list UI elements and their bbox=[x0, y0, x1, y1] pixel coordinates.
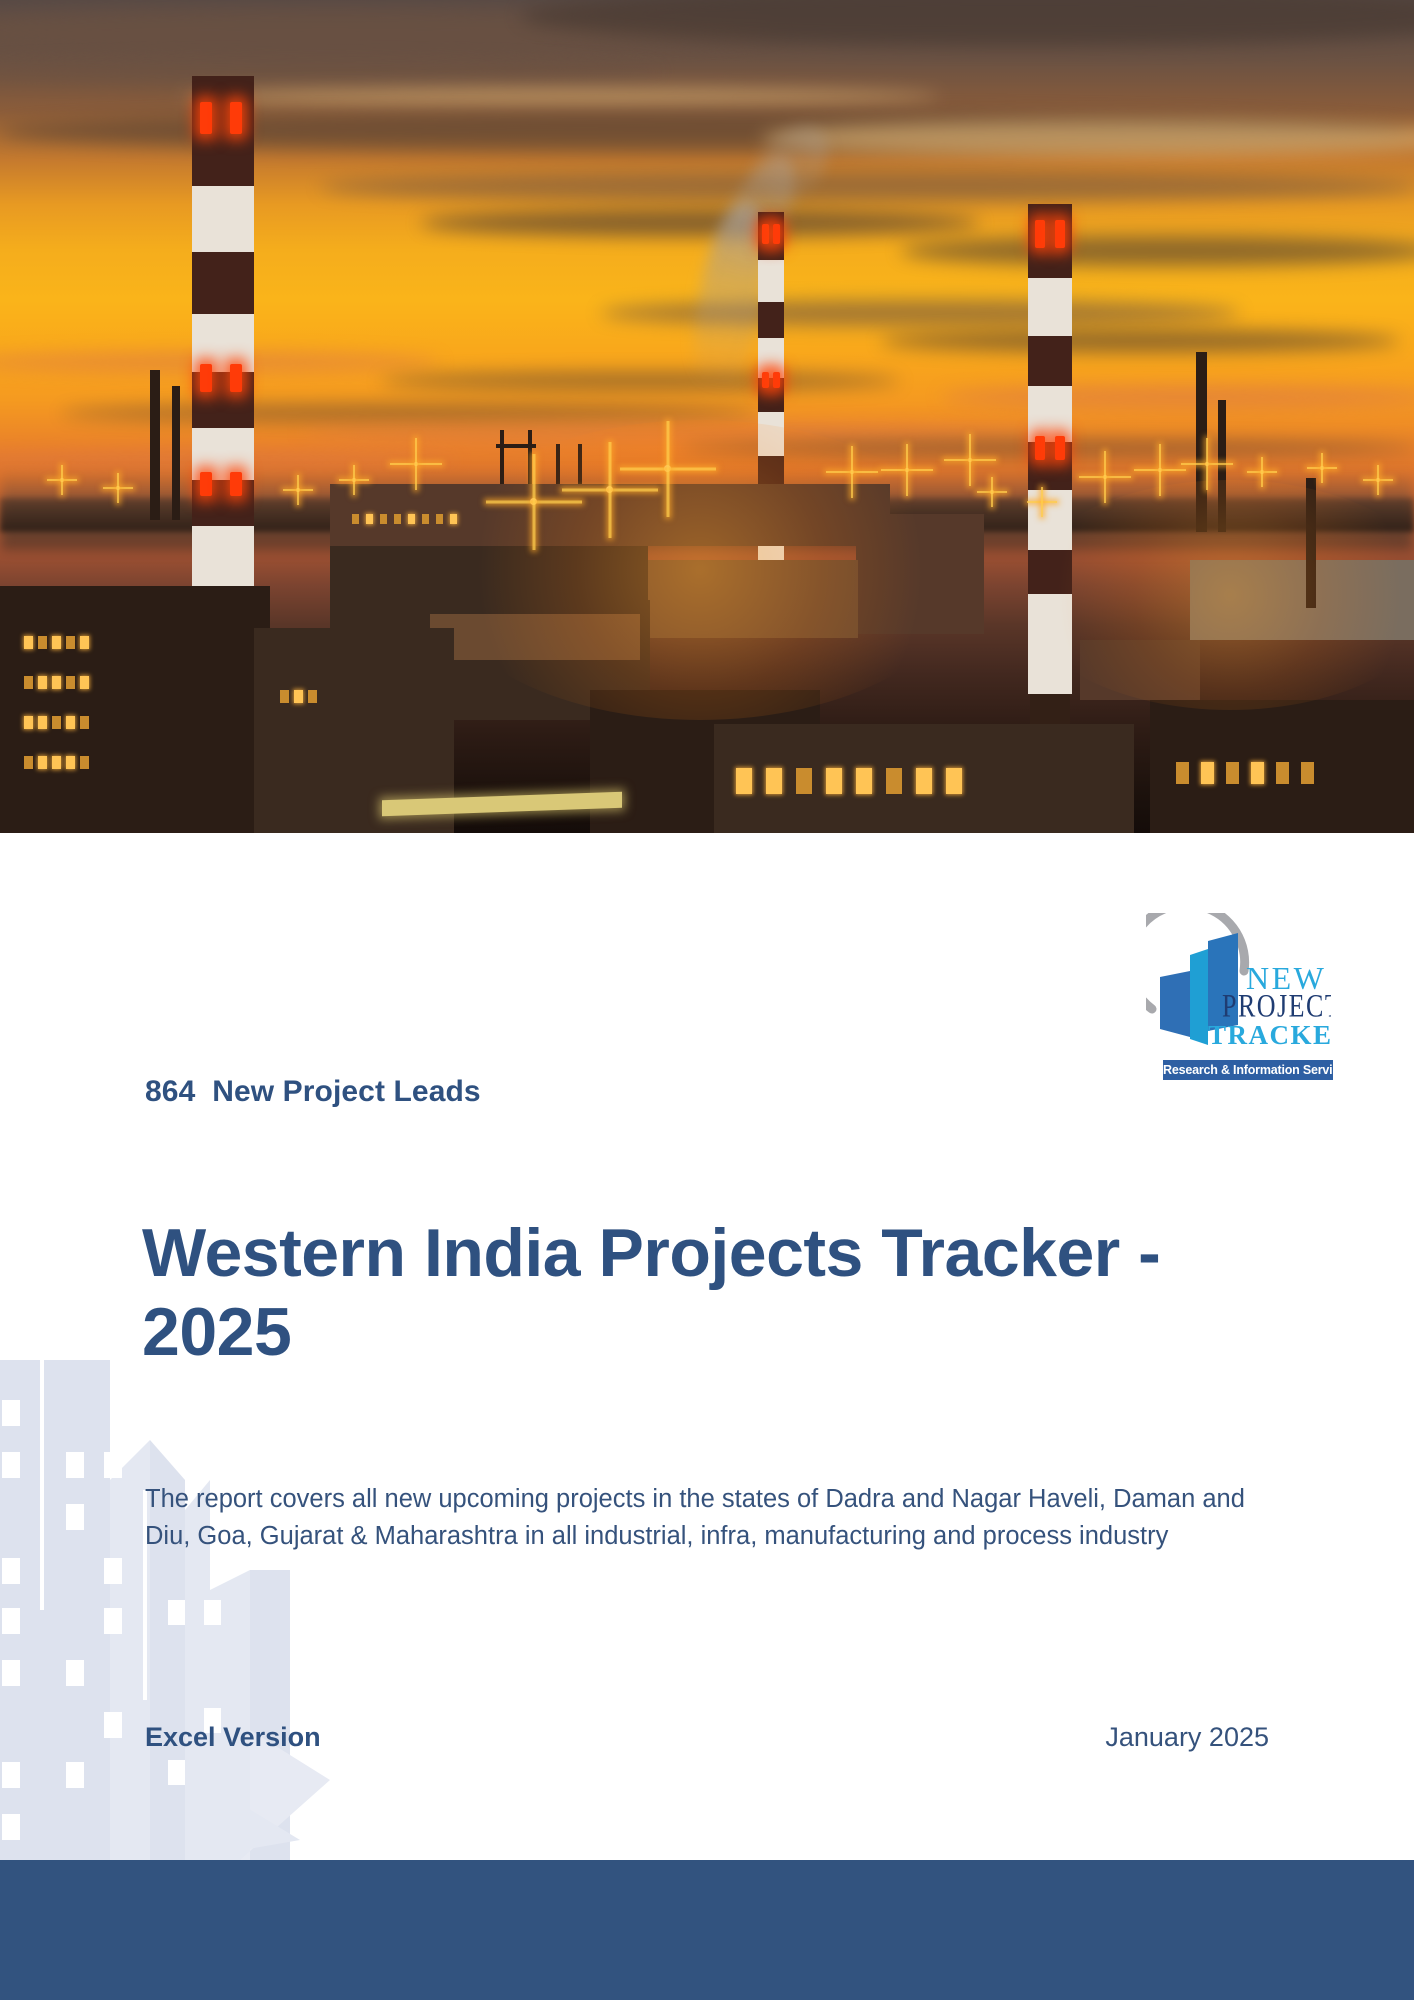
window-row bbox=[24, 756, 89, 769]
window-row bbox=[280, 690, 317, 703]
window-row bbox=[1176, 762, 1314, 784]
yard-light bbox=[1260, 470, 1264, 474]
footer-band bbox=[0, 1860, 1414, 2000]
yard-light bbox=[60, 478, 64, 482]
new-project-leads-line: 864 New Project Leads bbox=[145, 1075, 481, 1109]
logo-mark: NEW PROJECTS TRACKER bbox=[1146, 913, 1331, 1063]
yard-light bbox=[905, 468, 909, 472]
yard-glow bbox=[430, 420, 970, 720]
window-row bbox=[352, 514, 457, 524]
cover-description: The report covers all new upcoming proje… bbox=[145, 1481, 1275, 1555]
yard-light bbox=[1376, 478, 1380, 482]
cloud-band bbox=[180, 88, 940, 106]
logo-panel-mid bbox=[1190, 949, 1208, 1045]
yard-light bbox=[530, 498, 537, 505]
yard-light bbox=[414, 462, 418, 466]
window-row bbox=[736, 768, 962, 794]
window-row bbox=[24, 676, 89, 689]
yard-glow bbox=[1020, 480, 1414, 710]
yard-light bbox=[968, 458, 972, 462]
publication-date: January 2025 bbox=[1105, 1722, 1269, 1753]
yard-light bbox=[850, 470, 854, 474]
yard-light bbox=[1205, 462, 1209, 466]
yard-light bbox=[1320, 466, 1324, 470]
version-label: Excel Version bbox=[145, 1722, 321, 1753]
background-stack bbox=[172, 386, 180, 520]
window-row bbox=[24, 716, 89, 729]
yard-light bbox=[990, 490, 994, 494]
power-pylon bbox=[496, 444, 536, 448]
yard-light bbox=[1040, 500, 1044, 504]
decorative-city-skyline-graphic bbox=[0, 1300, 330, 1860]
cloud-band bbox=[900, 236, 1414, 266]
yard-light bbox=[664, 465, 671, 472]
cloud-band bbox=[380, 372, 900, 390]
smokestack-left bbox=[192, 76, 254, 636]
logo-word-tracker: TRACKER bbox=[1208, 1020, 1331, 1050]
window-row bbox=[24, 636, 89, 649]
yard-light bbox=[116, 486, 120, 490]
cloud-band bbox=[880, 330, 1400, 352]
yard-light bbox=[352, 478, 356, 482]
yard-light bbox=[606, 486, 613, 493]
cloud-band bbox=[60, 404, 760, 422]
new-projects-tracker-logo: NEW PROJECTS TRACKER bbox=[1146, 913, 1331, 1063]
background-stack bbox=[150, 370, 160, 520]
yard-light bbox=[1158, 468, 1162, 472]
page-title: Western India Projects Tracker - 2025 bbox=[142, 1214, 1172, 1373]
hero-photo-industrial-sunset bbox=[0, 0, 1414, 833]
factory-block-left bbox=[0, 586, 270, 833]
cloud-band bbox=[420, 210, 980, 236]
yard-light bbox=[1103, 475, 1107, 479]
cloud-band bbox=[940, 386, 1414, 408]
logo-panel-left bbox=[1160, 971, 1190, 1037]
report-cover-page: NEW PROJECTS TRACKER Research & Informat… bbox=[0, 0, 1414, 2000]
logo-tagline: Research & Information Services bbox=[1163, 1060, 1333, 1080]
yard-light bbox=[296, 488, 300, 492]
cloud-band bbox=[320, 172, 1414, 202]
